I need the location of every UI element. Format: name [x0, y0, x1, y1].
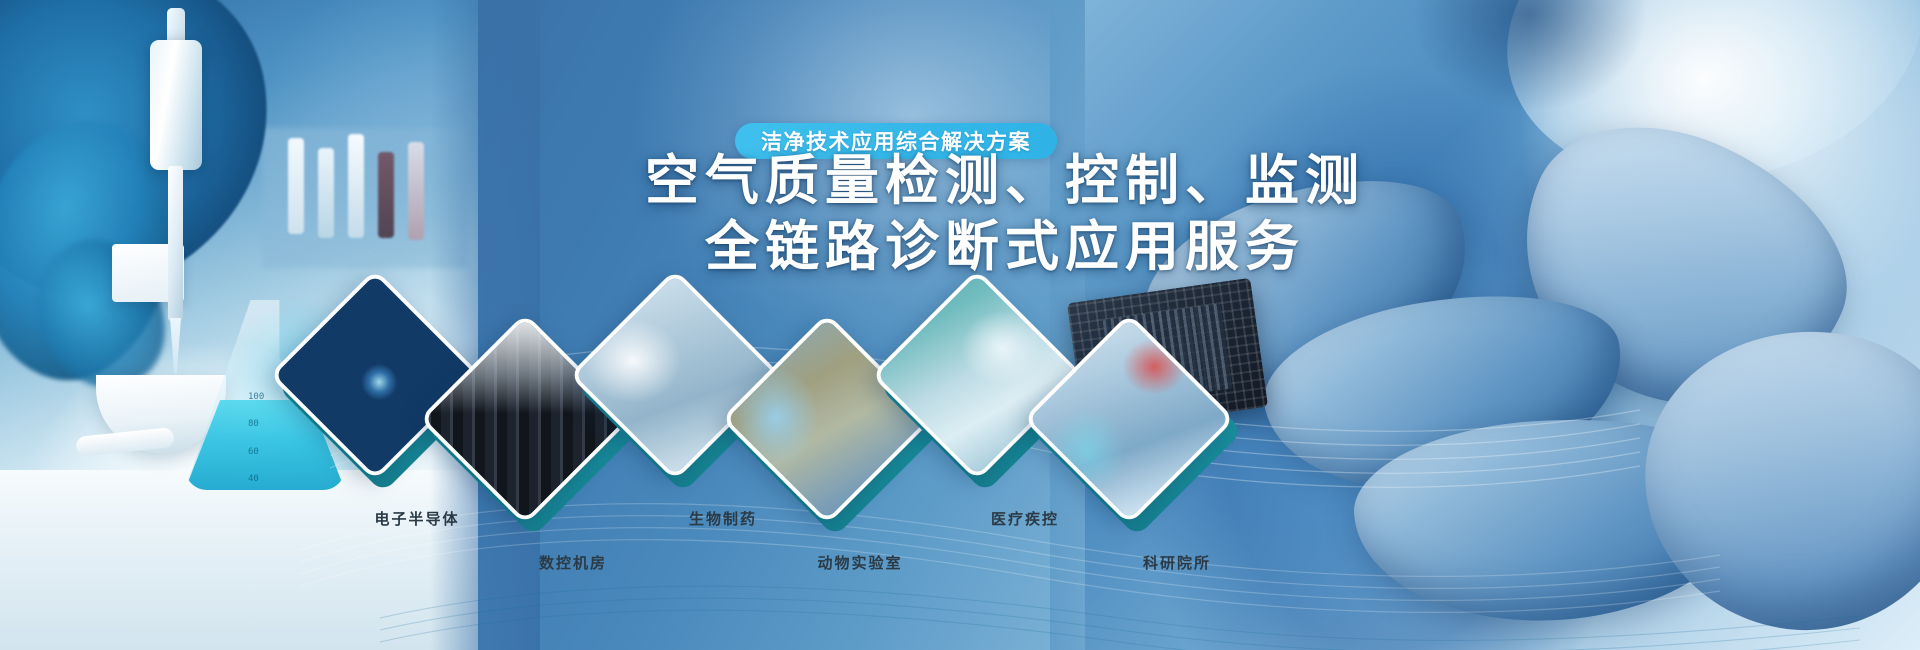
card-label-datacenter: 数控机房 [498, 552, 648, 573]
card-label-research: 科研院所 [1102, 552, 1252, 573]
card-photo-research-institute [1023, 320, 1235, 525]
industry-card-medical-cdc[interactable] [902, 300, 1052, 450]
industry-card-research[interactable] [1054, 344, 1204, 494]
industry-card-pharma[interactable] [600, 300, 750, 450]
card-diamond-frame[interactable] [1023, 313, 1235, 525]
card-label-medical-cdc: 医疗疾控 [950, 508, 1100, 529]
hero-banner: 100806040 [0, 0, 1920, 650]
card-label-pharma: 生物制药 [648, 508, 798, 529]
card-label-semiconductor: 电子半导体 [342, 508, 492, 529]
industry-card-row: 电子半导体数控机房生物制药动物实验室医疗疾控科研院所 [0, 0, 1920, 650]
card-label-animal-lab: 动物实验室 [785, 552, 935, 573]
